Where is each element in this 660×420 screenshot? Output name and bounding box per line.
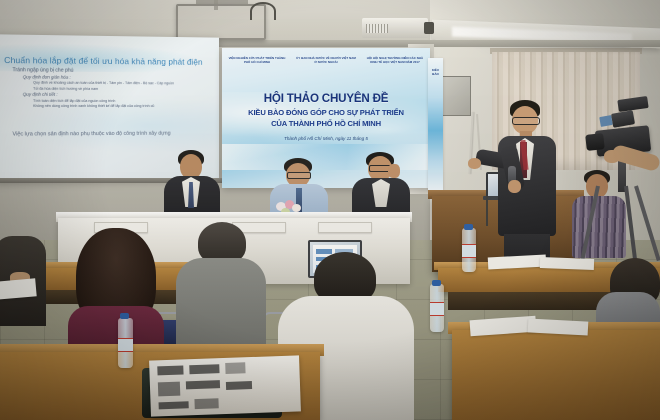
paper-sheet bbox=[540, 257, 594, 270]
hand-to-face bbox=[388, 164, 400, 178]
striped-shirt-torso bbox=[572, 196, 626, 258]
glasses-icon bbox=[287, 172, 311, 179]
conference-photo: Chuẩn hóa lắp đặt để tối ưu hóa khả năng… bbox=[0, 0, 660, 420]
slide-bullet-list: Tránh ngập úng bị che phủ Quy định đơn g… bbox=[8, 67, 211, 109]
bottle-label bbox=[430, 302, 444, 316]
left-hand-clicker bbox=[468, 158, 481, 169]
slide-bullet: Tối đa hóa diện tích hướng về phía nam bbox=[8, 86, 211, 91]
notepad bbox=[0, 278, 37, 299]
camera-monitor-screen bbox=[599, 115, 613, 127]
banner-org-3: HỘI HỘI NGHỊ THƯỜNG NIÊN CÁC NHÀ KINH TẾ… bbox=[364, 56, 426, 64]
banner-subtitle-1: KIỀU BÀO ĐÓNG GÓP CHO SỰ PHÁT TRIỂN bbox=[222, 108, 430, 117]
camera-lens-icon bbox=[585, 133, 605, 151]
slide-title: Chuẩn hóa lắp đặt để tối ưu hóa khả năng… bbox=[4, 55, 211, 67]
document-text-block bbox=[157, 365, 183, 375]
printed-documents bbox=[149, 355, 301, 416]
right-hand bbox=[508, 180, 521, 193]
projector-lens-icon bbox=[424, 22, 434, 34]
standee-text: KIỀU BÀO bbox=[430, 68, 441, 76]
document-image-block bbox=[158, 382, 180, 397]
document-text-block bbox=[186, 380, 220, 389]
bottle-label bbox=[462, 244, 476, 258]
bottle-cap bbox=[120, 313, 129, 319]
slide-bullet: Không nên dùng công trình xanh không thi… bbox=[8, 104, 211, 108]
banner-organizations: VIỆN NGHIÊN CỨU PHÁT TRIỂN THÀNH PHỐ HỒ … bbox=[226, 56, 426, 64]
bottle-cap bbox=[432, 280, 441, 286]
slide-closing-text: Việc lựa chọn sản định nào phụ thuộc vào… bbox=[12, 130, 207, 139]
roll-up-standee-banner bbox=[428, 58, 443, 190]
bottle-cap bbox=[464, 224, 473, 230]
front-right-desk bbox=[452, 330, 660, 420]
slide-bullet: Quy định về khoảng cách an toàn của thiế… bbox=[8, 81, 211, 86]
document-text-block bbox=[159, 401, 189, 409]
name-placard bbox=[318, 222, 372, 233]
banner-org-1: VIỆN NGHIÊN CỨU PHÁT TRIỂN THÀNH PHỐ HỒ … bbox=[226, 56, 288, 64]
banner-org-2: ỦY BAN NHÀ NƯỚC VỀ NGƯỜI VIỆT NAM Ở NƯỚC… bbox=[295, 56, 357, 64]
bottle-label bbox=[118, 338, 133, 352]
slide-bullet: Tính toán diện tích để lắp đặt của nguồn… bbox=[8, 98, 211, 103]
document-image-block bbox=[194, 398, 218, 409]
projector-cable bbox=[250, 2, 276, 20]
banner-date-line: Thành phố Hồ Chí Minh, ngày 11 tháng 5 bbox=[222, 136, 430, 141]
document-image-block bbox=[225, 362, 245, 374]
projector-vent bbox=[366, 24, 388, 33]
slide-bullet: Quy định chi tiết : bbox=[8, 92, 211, 98]
audience-man-grey-shirt bbox=[176, 222, 266, 362]
banner-title: HỘI THẢO CHUYÊN ĐỀ bbox=[222, 92, 430, 105]
banner-subtitle-2: CỦA THÀNH PHỐ HỒ CHÍ MINH bbox=[222, 119, 430, 128]
document-text-block bbox=[226, 381, 252, 390]
audience-woman-long-hair bbox=[68, 228, 164, 358]
camera-operator-hand bbox=[604, 150, 620, 163]
document-text-block bbox=[189, 364, 219, 374]
glasses-icon bbox=[512, 117, 540, 125]
flower-petal bbox=[292, 204, 301, 212]
slide-bullet: Quy định đơn giản hóa : bbox=[8, 74, 211, 81]
